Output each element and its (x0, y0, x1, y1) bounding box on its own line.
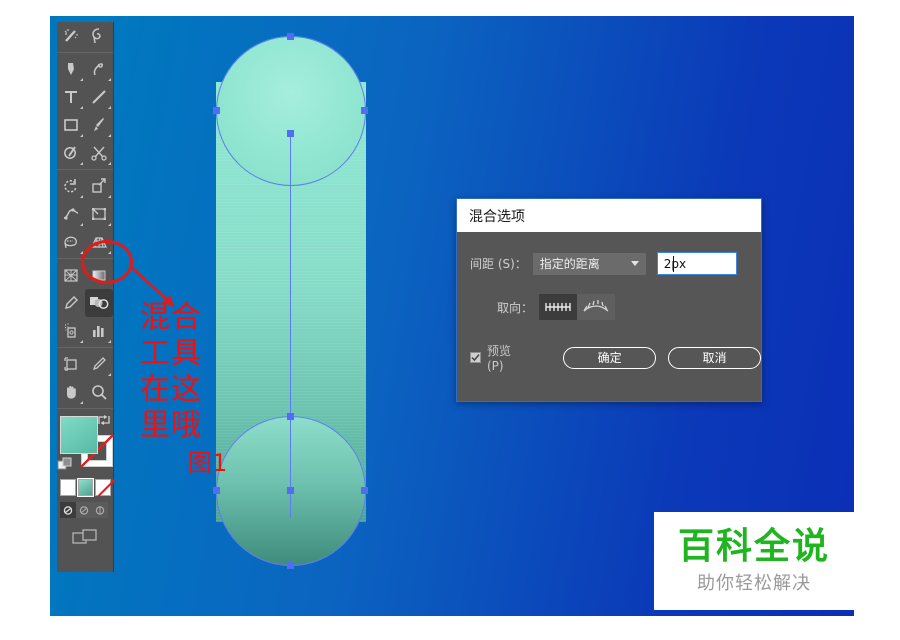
orientation-row: 取向： (497, 294, 615, 320)
tools-panel[interactable] (57, 22, 114, 572)
preview-label: 预览 (P) (487, 342, 528, 373)
line-segment-tool[interactable] (85, 83, 113, 111)
anchor-point[interactable] (361, 487, 368, 494)
anchor-point[interactable] (287, 130, 294, 137)
cancel-button[interactable]: 取消 (668, 347, 761, 369)
dialog-footer: 预览 (P) 确定 取消 (470, 342, 761, 373)
draw-normal-icon (63, 505, 74, 516)
flyout-indicator (80, 401, 83, 404)
change-screen-mode-button[interactable] (57, 528, 113, 546)
lasso-tool[interactable] (85, 22, 113, 50)
rotate-icon (62, 177, 80, 195)
dialog-body: 间距 (S)： 指定的距离 2px 取向： (457, 232, 761, 401)
rectangle-tool[interactable] (57, 111, 85, 139)
flyout-indicator (108, 340, 111, 343)
flyout-indicator (80, 134, 83, 137)
anchor-point[interactable] (213, 487, 220, 494)
chevron-down-icon (631, 261, 639, 266)
watermark-subtitle: 助你轻松解决 (697, 569, 811, 595)
draw-behind-icon (79, 505, 90, 516)
gradient-swatch-button[interactable] (78, 479, 94, 496)
flyout-indicator (108, 195, 111, 198)
none-swatch-button[interactable] (95, 479, 111, 496)
default-fill-stroke-icon[interactable] (57, 457, 73, 471)
blend-icon (89, 295, 109, 311)
align-to-path-button[interactable] (577, 294, 615, 320)
curvature-tool[interactable] (85, 55, 113, 83)
eyedropper-icon (62, 294, 80, 312)
rotate-tool[interactable] (57, 172, 85, 200)
column-graph-icon (90, 322, 108, 340)
slice-tool[interactable] (85, 350, 113, 378)
color-swatch-button[interactable] (60, 479, 76, 496)
preview-checkbox[interactable] (470, 352, 481, 363)
dialog-title-bar: 混合选项 (457, 199, 761, 232)
artboard-tool[interactable] (57, 350, 85, 378)
orientation-button-group[interactable] (539, 294, 615, 320)
pen-icon (62, 60, 80, 78)
align-to-page-button[interactable] (539, 294, 577, 320)
paintbrush-icon (90, 116, 108, 134)
color-mode-row[interactable] (57, 479, 113, 496)
type-icon (62, 88, 80, 106)
flyout-indicator (108, 373, 111, 376)
distance-input-value: 2px (664, 257, 686, 271)
anchor-point[interactable] (213, 107, 220, 114)
magic-wand-icon (62, 27, 80, 45)
figure-label: 图1 (188, 443, 227, 478)
blend-tool[interactable] (85, 289, 113, 317)
shaper-tool[interactable] (57, 139, 85, 167)
symbol-sprayer-tool[interactable] (57, 317, 85, 345)
line-icon (90, 88, 108, 106)
drawing-mode-row[interactable] (60, 502, 110, 518)
top-circle-shape[interactable] (216, 36, 366, 186)
draw-behind-button[interactable] (76, 502, 92, 518)
tool-separator (57, 347, 113, 348)
anchor-point[interactable] (361, 107, 368, 114)
watermark-badge: 百科全说 助你轻松解决 (654, 512, 854, 610)
spacing-row: 间距 (S)： 指定的距离 2px (470, 252, 737, 275)
scale-icon (90, 177, 108, 195)
swap-fill-stroke-icon[interactable] (97, 413, 111, 427)
mesh-icon (62, 266, 80, 284)
flyout-indicator (80, 106, 83, 109)
flyout-indicator (108, 223, 111, 226)
spacing-select-value: 指定的距离 (540, 255, 600, 272)
eyedropper-tool[interactable] (57, 289, 85, 317)
tools-grid (57, 22, 113, 406)
tool-separator (57, 408, 113, 409)
width-tool[interactable] (57, 200, 85, 228)
artboard-icon (62, 355, 80, 373)
blend-tool-note: 混合工具在这里哦 (140, 300, 206, 444)
screenshot-root: 图1 混合选项 间距 (S)： 指定的距离 2px (0, 0, 900, 640)
ok-button-label: 确定 (598, 349, 622, 366)
flyout-indicator (80, 78, 83, 81)
anchor-point[interactable] (287, 33, 294, 40)
width-icon (62, 205, 80, 223)
tool-separator (57, 52, 113, 53)
anchor-point[interactable] (287, 413, 294, 420)
spacing-label: 间距 (S)： (470, 255, 527, 272)
flyout-indicator (108, 162, 111, 165)
draw-normal-button[interactable] (60, 502, 76, 518)
blend-options-dialog[interactable]: 混合选项 间距 (S)： 指定的距离 2px 取向： (456, 198, 762, 402)
draw-inside-button[interactable] (92, 502, 108, 518)
distance-input[interactable]: 2px (657, 252, 737, 275)
flyout-indicator (80, 162, 83, 165)
flyout-indicator (108, 78, 111, 81)
slice-icon (90, 355, 108, 373)
curvature-pen-icon (90, 60, 108, 78)
zoom-tool[interactable] (85, 378, 113, 406)
shape-builder-icon (62, 233, 80, 251)
screen-mode-icon (72, 528, 98, 546)
magic-wand-tool[interactable] (57, 22, 85, 50)
check-icon (471, 353, 480, 362)
ok-button[interactable]: 确定 (563, 347, 656, 369)
dialog-title: 混合选项 (469, 206, 525, 226)
text-caret (673, 256, 674, 272)
scissors-tool[interactable] (85, 139, 113, 167)
flyout-indicator (80, 340, 83, 343)
fill-stroke-controls[interactable] (57, 413, 113, 475)
symbol-sprayer-icon (62, 322, 80, 340)
align-to-page-icon (544, 300, 572, 314)
type-tool[interactable] (57, 83, 85, 111)
cancel-button-label: 取消 (703, 349, 727, 366)
free-transform-icon (90, 205, 108, 223)
shape-builder-tool[interactable] (57, 228, 85, 256)
hand-icon (62, 383, 80, 401)
draw-inside-icon (95, 505, 106, 516)
paintbrush-tool[interactable] (85, 111, 113, 139)
scissors-icon (90, 144, 108, 162)
shaper-icon (62, 144, 80, 162)
zoom-icon (90, 383, 108, 401)
fill-swatch[interactable] (60, 416, 98, 454)
hand-tool[interactable] (57, 378, 85, 406)
flyout-indicator (80, 223, 83, 226)
flyout-indicator (108, 134, 111, 137)
orientation-label: 取向： (497, 299, 533, 316)
scale-tool[interactable] (85, 172, 113, 200)
lasso-icon (90, 27, 108, 45)
free-transform-tool[interactable] (85, 200, 113, 228)
blended-capsule-artwork[interactable] (216, 36, 366, 566)
watermark-title: 百科全说 (678, 527, 830, 567)
tool-separator (57, 169, 113, 170)
anchor-point[interactable] (287, 562, 294, 569)
align-to-path-icon (582, 299, 610, 315)
column-graph-tool[interactable] (85, 317, 113, 345)
anchor-point[interactable] (287, 487, 294, 494)
spacing-select[interactable]: 指定的距离 (533, 253, 646, 275)
flyout-indicator (108, 106, 111, 109)
pen-tool[interactable] (57, 55, 85, 83)
flyout-indicator (80, 195, 83, 198)
blend-spine-path (290, 134, 291, 518)
rectangle-icon (62, 116, 80, 134)
